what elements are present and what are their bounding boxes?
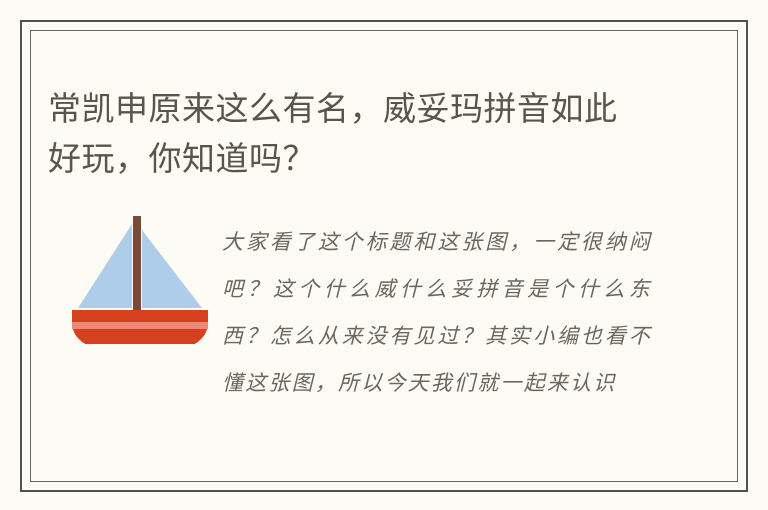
sailboat-icon (70, 204, 210, 344)
article-card: 常凯申原来这么有名，威妥玛拼音如此好玩，你知道吗？ 大家看了这个标题和这张图，一… (0, 0, 768, 510)
sailboat-illustration (70, 204, 210, 344)
article-body-text: 大家看了这个标题和这张图，一定很纳闷吧？这个什么威什么妥拼音是个什么东西？怎么从… (222, 219, 652, 407)
card-content: 常凯申原来这么有名，威妥玛拼音如此好玩，你知道吗？ 大家看了这个标题和这张图，一… (30, 30, 738, 482)
article-headline: 常凯申原来这么有名，威妥玛拼音如此好玩，你知道吗？ (48, 84, 648, 184)
article-body-area: 大家看了这个标题和这张图，一定很纳闷吧？这个什么威什么妥拼音是个什么东西？怎么从… (30, 198, 738, 478)
